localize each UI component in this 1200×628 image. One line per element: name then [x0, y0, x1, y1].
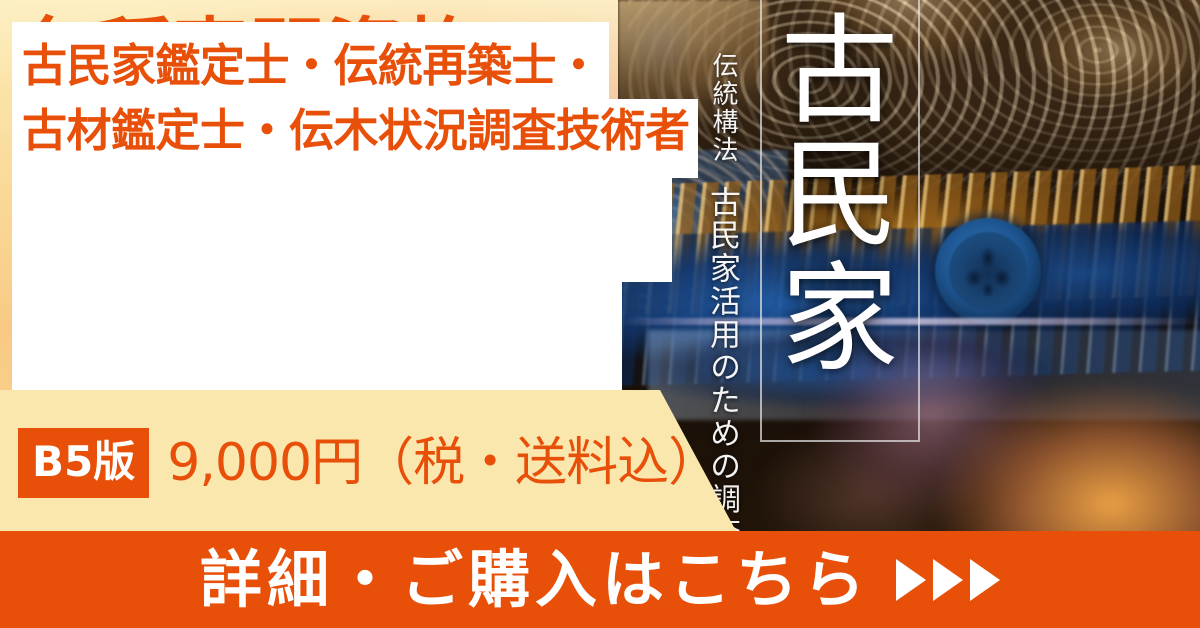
qualifications-line-1: 古民家鑑定士・伝統再築士・ [12, 22, 609, 99]
chevron-right-icon-3 [970, 559, 1000, 601]
cta-arrows [896, 559, 1000, 601]
price-amount: 9,000円（税・送料込） [167, 437, 719, 489]
promo-banner: 古民家 伝統構法 古民家活用のための調査と再生の 古民家鑑定士・伝統再築士・ 古… [0, 0, 1200, 628]
cta-label: 詳細・ご購入はこちら [200, 549, 870, 611]
qualifications-panel: 古民家鑑定士・伝統再築士・ 古材鑑定士・伝木状況調査技術者 [12, 22, 698, 178]
cover-title: 古民家 [784, 8, 896, 380]
chevron-right-icon-1 [896, 559, 926, 601]
size-badge: B5版 [18, 428, 149, 498]
qualifications-line-2: 古材鑑定士・伝木状況調査技術者 [12, 99, 698, 178]
cover-subtitle-1: 伝統構法 [705, 52, 742, 164]
cta-bar[interactable]: 詳細・ご購入はこちら [0, 531, 1200, 628]
price-row: B5版 9,000円（税・送料込） [18, 428, 719, 498]
headline-panel [12, 172, 672, 390]
chevron-right-icon-2 [933, 559, 963, 601]
